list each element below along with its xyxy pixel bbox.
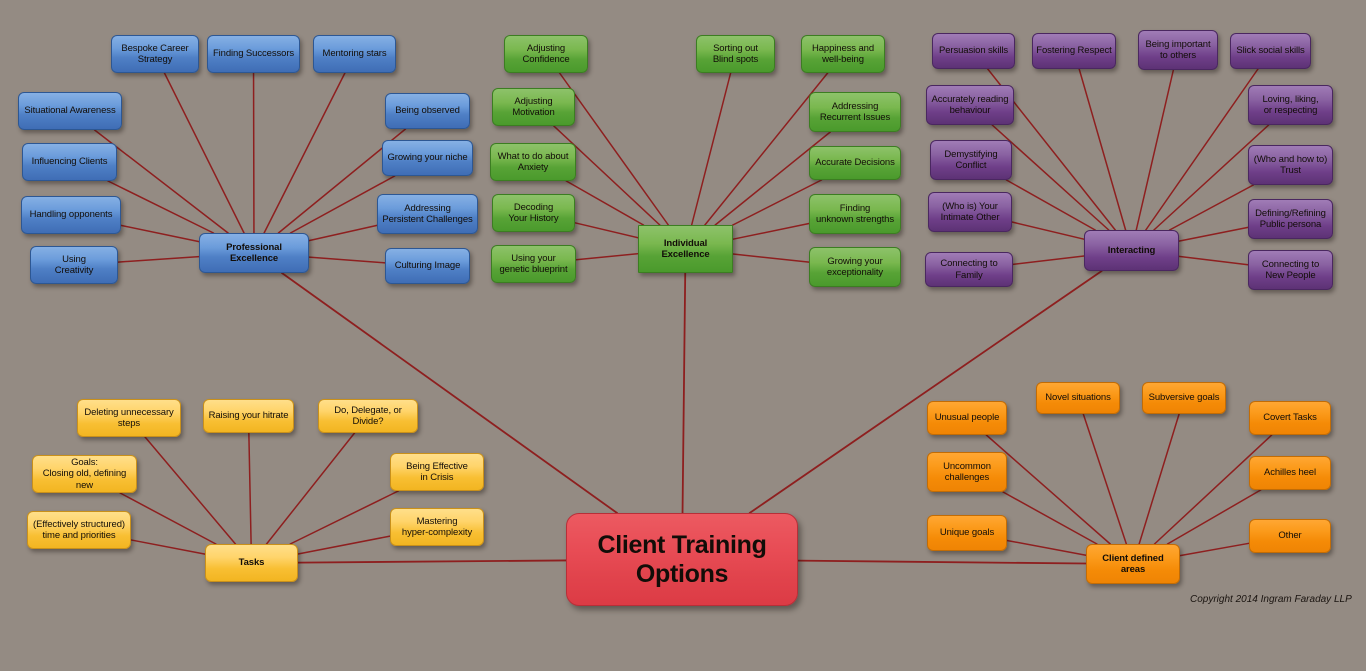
- leaf-node-tasks-goals-closing-old-defining-new[interactable]: Goals:Closing old, defining new: [32, 455, 137, 493]
- node-label: Influencing Clients: [32, 156, 108, 168]
- connector-line: [1007, 540, 1086, 555]
- leaf-node-interacting-demystifying-conflict[interactable]: DemystifyingConflict: [930, 140, 1012, 180]
- root-node-client-training-options[interactable]: Client TrainingOptions: [566, 513, 798, 606]
- node-label: Defining/RefiningPublic persona: [1255, 208, 1326, 231]
- node-label: Slick social skills: [1236, 45, 1304, 57]
- leaf-node-client-defined-areas-subversive-goals[interactable]: Subversive goals: [1142, 382, 1226, 414]
- leaf-node-individual-excellence-what-to-do-about-anxiety[interactable]: What to do aboutAnxiety: [490, 143, 576, 181]
- copyright-notice: Copyright 2014 Ingram Faraday LLP: [1190, 594, 1352, 605]
- node-label: DecodingYour History: [508, 202, 558, 225]
- node-label: Deleting unnecessarysteps: [84, 407, 173, 430]
- mindmap-canvas: Client TrainingOptionsProfessional Excel…: [0, 0, 1366, 671]
- connector-line: [1003, 492, 1097, 544]
- leaf-node-interacting-connecting-to-family[interactable]: Connecting to Family: [925, 252, 1013, 287]
- leaf-node-tasks-being-effective-in-crisis[interactable]: Being Effectivein Crisis: [390, 453, 484, 491]
- node-label: Accurate Decisions: [815, 157, 895, 169]
- node-label: Masteringhyper-complexity: [402, 516, 472, 539]
- connector-line: [1170, 185, 1254, 230]
- leaf-node-client-defined-areas-novel-situations[interactable]: Novel situations: [1036, 382, 1120, 414]
- node-label: Unique goals: [940, 527, 994, 539]
- leaf-node-tasks-do-delegate-or-divide[interactable]: Do, Delegate, or Divide?: [318, 399, 418, 433]
- leaf-node-interacting-persuasion-skills[interactable]: Persuasion skills: [932, 33, 1015, 69]
- leaf-node-individual-excellence-growing-your-exceptionality[interactable]: Growing yourexceptionality: [809, 247, 901, 287]
- leaf-node-tasks-mastering-hyper-complexity[interactable]: Masteringhyper-complexity: [390, 508, 484, 546]
- node-label: Persuasion skills: [939, 45, 1008, 57]
- leaf-node-individual-excellence-adjusting-motivation[interactable]: AdjustingMotivation: [492, 88, 575, 126]
- leaf-node-client-defined-areas-uncommon-challenges[interactable]: Uncommonchallenges: [927, 452, 1007, 492]
- node-label: Do, Delegate, or Divide?: [322, 405, 414, 428]
- connector-line: [264, 73, 345, 233]
- leaf-node-client-defined-areas-other[interactable]: Other: [1249, 519, 1331, 553]
- node-label: Growing your niche: [387, 152, 467, 164]
- connector-line: [1179, 256, 1248, 264]
- node-label: Uncommonchallenges: [943, 461, 991, 484]
- leaf-node-professional-excellence-being-observed[interactable]: Being observed: [385, 93, 470, 129]
- leaf-node-interacting-connecting-to-new-people[interactable]: Connecting toNew People: [1248, 250, 1333, 290]
- node-label: Being Effectivein Crisis: [406, 461, 468, 484]
- connector-line: [566, 181, 643, 225]
- node-label: Being observed: [395, 105, 460, 117]
- connector-line: [298, 560, 566, 562]
- leaf-node-professional-excellence-influencing-clients[interactable]: Influencing Clients: [22, 143, 117, 181]
- hub-node-interacting[interactable]: Interacting: [1084, 230, 1179, 271]
- leaf-node-professional-excellence-bespoke-career-strategy[interactable]: Bespoke CareerStrategy: [111, 35, 199, 73]
- node-label: Tasks: [239, 557, 265, 569]
- node-label: Subversive goals: [1149, 392, 1220, 404]
- leaf-node-professional-excellence-finding-successors[interactable]: Finding Successors: [207, 35, 300, 73]
- hub-node-client-defined-areas[interactable]: Client definedareas: [1086, 544, 1180, 584]
- leaf-node-individual-excellence-using-your-genetic-blueprint[interactable]: Using yourgenetic blueprint: [491, 245, 576, 283]
- node-label: Unusual people: [935, 412, 1000, 424]
- node-label: AddressingPersistent Challenges: [382, 203, 472, 226]
- node-label: AddressingRecurrent Issues: [820, 101, 890, 124]
- connector-line: [145, 437, 235, 544]
- connector-line: [1012, 222, 1084, 239]
- leaf-node-client-defined-areas-unique-goals[interactable]: Unique goals: [927, 515, 1007, 551]
- leaf-node-individual-excellence-addressing-recurrent-issues[interactable]: AddressingRecurrent Issues: [809, 92, 901, 132]
- connector-line: [1006, 180, 1095, 230]
- leaf-node-individual-excellence-adjusting-confidence[interactable]: AdjustingConfidence: [504, 35, 588, 73]
- leaf-node-professional-excellence-using-creativity[interactable]: UsingCreativity: [30, 246, 118, 284]
- leaf-node-interacting-loving-liking-or-respecting[interactable]: Loving, liking,or respecting: [1248, 85, 1333, 125]
- connector-line: [1180, 543, 1249, 555]
- connector-line: [692, 73, 731, 225]
- node-label: Sorting outBlind spots: [713, 43, 758, 66]
- connector-line: [1136, 70, 1173, 230]
- node-label: Accurately readingbehaviour: [932, 94, 1009, 117]
- node-label: Fostering Respect: [1036, 45, 1111, 57]
- leaf-node-individual-excellence-sorting-out-blind-spots[interactable]: Sorting outBlind spots: [696, 35, 775, 73]
- hub-node-individual-excellence[interactable]: IndividualExcellence: [638, 225, 733, 273]
- leaf-node-client-defined-areas-unusual-people[interactable]: Unusual people: [927, 401, 1007, 435]
- node-label: Client TrainingOptions: [597, 531, 766, 589]
- connector-line: [249, 433, 251, 544]
- node-label: Findingunknown strengths: [816, 203, 894, 226]
- node-label: Being importantto others: [1145, 39, 1210, 62]
- node-label: Covert Tasks: [1263, 412, 1317, 424]
- node-label: Professional Excellence: [203, 242, 305, 265]
- leaf-node-interacting-slick-social-skills[interactable]: Slick social skills: [1230, 33, 1311, 69]
- connector-line: [798, 561, 1086, 564]
- connector-line: [1179, 227, 1248, 241]
- node-label: Other: [1278, 530, 1301, 542]
- connector-line: [1083, 414, 1126, 544]
- node-label: Client definedareas: [1102, 553, 1163, 576]
- node-label: Finding Successors: [213, 48, 294, 60]
- leaf-node-tasks-effectively-structured-time-and-priorities[interactable]: (Effectively structured)time and priorit…: [27, 511, 131, 549]
- leaf-node-interacting-who-is-your-intimate-other[interactable]: (Who is) YourIntimate Other: [928, 192, 1012, 232]
- connector-line: [267, 433, 355, 544]
- leaf-node-professional-excellence-mentoring-stars[interactable]: Mentoring stars: [313, 35, 396, 73]
- connector-line: [121, 225, 199, 241]
- node-label: IndividualExcellence: [661, 238, 709, 261]
- leaf-node-professional-excellence-culturing-image[interactable]: Culturing Image: [385, 248, 470, 284]
- connector-line: [298, 536, 390, 554]
- connector-line: [683, 273, 686, 513]
- node-label: Handling opponents: [30, 209, 113, 221]
- connector-line: [576, 254, 638, 260]
- leaf-node-interacting-defining-refining-public-persona[interactable]: Defining/RefiningPublic persona: [1248, 199, 1333, 239]
- leaf-node-interacting-being-important-to-others[interactable]: Being importantto others: [1138, 30, 1218, 70]
- leaf-node-interacting-fostering-respect[interactable]: Fostering Respect: [1032, 33, 1116, 69]
- connector-line: [131, 540, 205, 554]
- node-label: (Who and how to)Trust: [1254, 154, 1327, 177]
- node-label: AdjustingConfidence: [522, 43, 569, 66]
- node-label: DemystifyingConflict: [944, 149, 997, 172]
- leaf-node-professional-excellence-growing-your-niche[interactable]: Growing your niche: [382, 140, 473, 176]
- node-label: AdjustingMotivation: [512, 96, 554, 119]
- leaf-node-interacting-who-and-how-to-trust[interactable]: (Who and how to)Trust: [1248, 145, 1333, 185]
- connector-line: [309, 257, 385, 263]
- connector-line: [164, 73, 244, 233]
- connector-line: [290, 491, 398, 544]
- leaf-node-individual-excellence-decoding-your-history[interactable]: DecodingYour History: [492, 194, 575, 232]
- node-label: Connecting toNew People: [1262, 259, 1319, 282]
- leaf-node-interacting-accurately-reading-behaviour[interactable]: Accurately readingbehaviour: [926, 85, 1014, 125]
- node-label: Happiness andwell-being: [812, 43, 874, 66]
- leaf-node-client-defined-areas-covert-tasks[interactable]: Covert Tasks: [1249, 401, 1331, 435]
- leaf-node-tasks-deleting-unnecessary-steps[interactable]: Deleting unnecessarysteps: [77, 399, 181, 437]
- node-label: Culturing Image: [395, 260, 461, 272]
- connector-line: [309, 225, 377, 240]
- leaf-node-professional-excellence-handling-opponents[interactable]: Handling opponents: [21, 196, 121, 234]
- node-label: Achilles heel: [1264, 467, 1316, 479]
- connector-line: [1079, 69, 1125, 230]
- leaf-node-individual-excellence-happiness-and-well-being[interactable]: Happiness andwell-being: [801, 35, 885, 73]
- connector-line: [1139, 414, 1179, 544]
- leaf-node-individual-excellence-finding-unknown-strengths[interactable]: Findingunknown strengths: [809, 194, 901, 234]
- node-label: Goals:Closing old, defining new: [36, 457, 133, 492]
- connector-line: [733, 254, 809, 262]
- leaf-node-professional-excellence-situational-awareness[interactable]: Situational Awareness: [18, 92, 122, 130]
- connector-line: [575, 223, 638, 238]
- connector-line: [1013, 256, 1084, 264]
- connector-line: [108, 181, 213, 233]
- hub-node-tasks[interactable]: Tasks: [205, 544, 298, 582]
- leaf-node-tasks-raising-your-hitrate[interactable]: Raising your hitrate: [203, 399, 294, 433]
- node-label: Raising your hitrate: [209, 410, 289, 422]
- node-label: Mentoring stars: [323, 48, 387, 60]
- node-label: Bespoke CareerStrategy: [121, 43, 188, 66]
- node-label: Novel situations: [1045, 392, 1110, 404]
- connector-line: [118, 257, 199, 262]
- node-label: (Who is) YourIntimate Other: [941, 201, 1000, 224]
- hub-node-professional-excellence[interactable]: Professional Excellence: [199, 233, 309, 273]
- node-label: Connecting to Family: [929, 258, 1009, 281]
- leaf-node-client-defined-areas-achilles-heel[interactable]: Achilles heel: [1249, 456, 1331, 490]
- node-label: What to do aboutAnxiety: [498, 151, 569, 174]
- connector-line: [1146, 69, 1258, 230]
- leaf-node-professional-excellence-addressing-persistent-challenges[interactable]: AddressingPersistent Challenges: [377, 194, 478, 234]
- connector-line: [120, 493, 216, 544]
- leaf-node-individual-excellence-accurate-decisions[interactable]: Accurate Decisions: [809, 146, 901, 180]
- node-label: Situational Awareness: [24, 105, 115, 117]
- node-label: Using yourgenetic blueprint: [499, 253, 567, 276]
- node-label: UsingCreativity: [55, 254, 94, 277]
- connector-line: [1168, 490, 1261, 544]
- node-label: Growing yourexceptionality: [827, 256, 883, 279]
- connector-line: [733, 223, 809, 239]
- node-label: Loving, liking,or respecting: [1262, 94, 1318, 117]
- node-label: Interacting: [1108, 245, 1155, 257]
- node-label: (Effectively structured)time and priorit…: [33, 519, 125, 542]
